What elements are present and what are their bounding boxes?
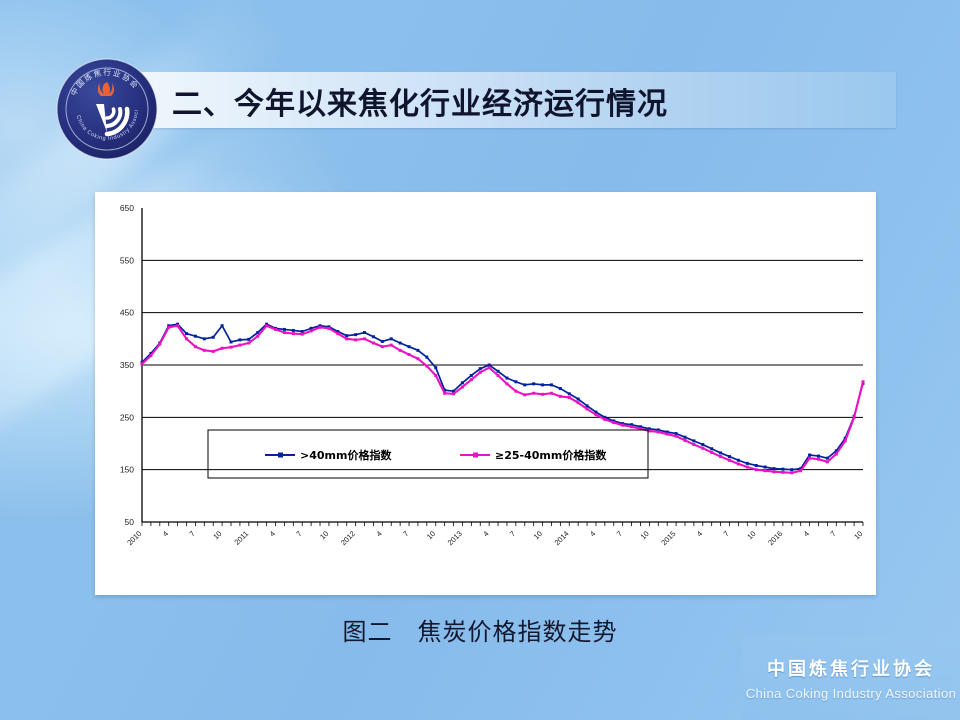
series-2-marker	[612, 421, 615, 424]
series-1-marker	[292, 329, 295, 332]
series-1-marker	[532, 382, 535, 385]
series-2-marker	[167, 326, 170, 329]
y-axis-tick-label: 650	[120, 203, 134, 213]
series-2-marker	[479, 371, 482, 374]
series-1-marker	[550, 383, 553, 386]
series-2-marker	[737, 462, 740, 465]
series-2-marker	[319, 326, 322, 329]
series-2-marker	[203, 349, 206, 352]
series-1-marker	[559, 387, 562, 390]
series-2-marker	[212, 350, 215, 353]
series-2-marker	[746, 466, 749, 469]
series-2-marker	[550, 392, 553, 395]
series-2-marker	[541, 393, 544, 396]
slide-root: 二、今年以来焦化行业经济运行情况 中国炼焦行业协会 China Coking I…	[0, 0, 960, 720]
y-axis-tick-label: 450	[120, 308, 134, 318]
series-2-marker	[247, 342, 250, 345]
series-1-marker	[434, 366, 437, 369]
x-axis-tick-label: 2010	[125, 529, 143, 547]
series-1-marker	[746, 462, 749, 465]
series-1-marker	[194, 335, 197, 338]
series-2-marker	[630, 425, 633, 428]
series-1-marker	[283, 328, 286, 331]
x-axis-tick-label: 7	[294, 529, 303, 538]
footer-brand-name-en: China Coking Industry Association	[746, 686, 956, 701]
series-1-marker	[505, 377, 508, 380]
series-1-marker	[301, 330, 304, 333]
series-2-marker	[764, 469, 767, 472]
series-1-marker	[586, 404, 589, 407]
series-2-marker	[452, 392, 455, 395]
series-2-marker	[434, 374, 437, 377]
series-2-marker	[568, 396, 571, 399]
series-1-marker	[675, 432, 678, 435]
x-axis-tick-label: 10	[211, 529, 223, 541]
series-2-marker	[381, 345, 384, 348]
legend-label-2: ≥25-40mm价格指数	[495, 448, 607, 462]
x-axis-tick-label: 4	[695, 529, 704, 538]
series-2-marker	[772, 470, 775, 473]
series-2-marker	[194, 345, 197, 348]
series-2-marker	[283, 331, 286, 334]
series-1-marker	[497, 370, 500, 373]
series-1-marker	[577, 398, 580, 401]
x-axis-tick-label: 2013	[446, 529, 464, 547]
series-2-marker	[514, 390, 517, 393]
x-axis-tick-label: 10	[745, 529, 757, 541]
y-axis-tick-label: 250	[120, 412, 134, 422]
series-2-marker	[781, 471, 784, 474]
x-axis-tick-label: 7	[828, 529, 837, 538]
chart-gridlines	[142, 260, 863, 469]
series-2-marker	[808, 457, 811, 460]
x-axis-tick-label: 2014	[553, 529, 571, 547]
series-2-marker	[390, 344, 393, 347]
series-2-marker	[354, 338, 357, 341]
series-2-marker	[425, 365, 428, 368]
series-1-marker	[817, 455, 820, 458]
series-2-marker	[755, 468, 758, 471]
footer-brand: 中国炼焦行业协会 China Coking Industry Associati…	[742, 636, 960, 720]
association-logo-icon: 中国炼焦行业协会 China Coking Industry Associati…	[54, 56, 160, 162]
chart-x-axis-labels: 2010471020114710201247102013471020144710…	[125, 529, 864, 547]
series-1-marker	[185, 332, 188, 335]
series-1-marker	[826, 457, 829, 460]
series-1-marker	[772, 467, 775, 470]
series-1-marker	[203, 337, 206, 340]
series-2-marker	[399, 349, 402, 352]
series-1-marker	[790, 468, 793, 471]
series-2-marker	[719, 455, 722, 458]
series-1-marker	[425, 356, 428, 359]
series-1-marker	[808, 454, 811, 457]
series-2-marker	[274, 328, 277, 331]
x-axis-tick-label: 7	[615, 529, 624, 538]
series-2-marker	[586, 407, 589, 410]
x-axis-tick-label: 7	[401, 529, 410, 538]
series-2-marker	[158, 343, 161, 346]
x-axis-tick-label: 4	[161, 529, 170, 538]
series-1-marker	[710, 447, 713, 450]
chart-legend: >40mm价格指数≥25-40mm价格指数	[208, 430, 648, 478]
series-2-marker	[488, 366, 491, 369]
series-1-marker	[479, 367, 482, 370]
series-2-marker	[728, 459, 731, 462]
series-2-marker	[408, 353, 411, 356]
series-1-marker	[728, 455, 731, 458]
series-2-marker	[372, 342, 375, 345]
series-1-marker	[683, 436, 686, 439]
series-1-marker	[238, 338, 241, 341]
series-2-marker	[862, 380, 865, 383]
series-2-marker	[692, 443, 695, 446]
series-2-marker	[505, 382, 508, 385]
series-1-marker	[719, 451, 722, 454]
y-axis-tick-label: 150	[120, 465, 134, 475]
series-2-marker	[221, 347, 224, 350]
series-line-1	[142, 324, 863, 469]
x-axis-tick-label: 4	[481, 529, 490, 538]
series-1-marker	[345, 334, 348, 337]
series-1-marker	[781, 468, 784, 471]
chart-card: 50150250350450550650 2010471020114710201…	[95, 192, 876, 595]
series-2-marker	[701, 447, 704, 450]
series-2-marker	[683, 439, 686, 442]
series-2-marker	[256, 335, 259, 338]
series-2-marker	[292, 332, 295, 335]
x-axis-tick-label: 2015	[659, 529, 677, 547]
series-2-marker	[666, 433, 669, 436]
series-1-marker	[764, 466, 767, 469]
series-2-marker	[176, 324, 179, 327]
series-2-marker	[621, 424, 624, 427]
series-1-marker	[247, 338, 250, 341]
series-2-marker	[185, 337, 188, 340]
series-1-marker	[221, 324, 224, 327]
series-2-marker	[559, 395, 562, 398]
legend-label-1: >40mm价格指数	[300, 448, 392, 462]
series-2-marker	[844, 439, 847, 442]
chart-y-axis-labels: 50150250350450550650	[120, 203, 134, 527]
x-axis-tick-label: 7	[722, 529, 731, 538]
series-1-marker	[399, 342, 402, 345]
x-axis-tick-label: 4	[374, 529, 383, 538]
series-2-marker	[799, 469, 802, 472]
series-1-marker	[230, 340, 233, 343]
series-1-marker	[212, 336, 215, 339]
series-2-marker	[710, 451, 713, 454]
series-1-marker	[755, 464, 758, 467]
series-1-marker	[514, 380, 517, 383]
footer-brand-name-cn: 中国炼焦行业协会	[767, 655, 935, 681]
series-2-marker	[470, 378, 473, 381]
series-2-marker	[577, 401, 580, 404]
x-axis-tick-label: 4	[802, 529, 811, 538]
x-axis-tick-label: 4	[588, 529, 597, 538]
series-2-marker	[603, 418, 606, 421]
series-2-marker	[230, 346, 233, 349]
series-1-marker	[416, 349, 419, 352]
series-2-marker	[826, 460, 829, 463]
series-2-marker	[149, 354, 152, 357]
x-axis-tick-label: 4	[268, 529, 277, 538]
series-2-marker	[265, 324, 268, 327]
series-2-marker	[835, 452, 838, 455]
series-2-marker	[790, 471, 793, 474]
series-1-marker	[354, 333, 357, 336]
x-axis-tick-label: 7	[508, 529, 517, 538]
series-2-marker	[327, 327, 330, 330]
series-2-marker	[657, 430, 660, 433]
series-2-marker	[523, 393, 526, 396]
series-2-marker	[238, 344, 241, 347]
x-axis-tick-label: 10	[425, 529, 437, 541]
x-axis-tick-label: 10	[852, 529, 864, 541]
series-1-marker	[737, 459, 740, 462]
series-2-marker	[443, 392, 446, 395]
series-1-marker	[541, 383, 544, 386]
series-2-marker	[416, 357, 419, 360]
series-2-marker	[363, 337, 366, 340]
series-2-marker	[594, 413, 597, 416]
series-1-marker	[692, 439, 695, 442]
x-axis-tick-label: 10	[318, 529, 330, 541]
x-axis-tick-label: 2012	[339, 529, 357, 547]
series-2-marker	[345, 337, 348, 340]
y-axis-tick-label: 550	[120, 255, 134, 265]
series-2-marker	[141, 362, 144, 365]
series-1-marker	[363, 331, 366, 334]
series-1-marker	[701, 443, 704, 446]
x-axis-tick-label: 2016	[766, 529, 784, 547]
series-1-marker	[568, 392, 571, 395]
x-axis-tick-label: 10	[639, 529, 651, 541]
series-2-marker	[461, 385, 464, 388]
page-title: 二、今年以来焦化行业经济运行情况	[172, 76, 872, 126]
x-axis-tick-label: 2011	[232, 529, 250, 547]
series-1-marker	[488, 364, 491, 367]
series-1-marker	[523, 383, 526, 386]
series-2-marker	[532, 392, 535, 395]
series-1-marker	[390, 337, 393, 340]
series-2-marker	[336, 332, 339, 335]
series-1-marker	[381, 340, 384, 343]
y-axis-tick-label: 350	[120, 360, 134, 370]
series-1-marker	[470, 374, 473, 377]
series-2-marker	[817, 458, 820, 461]
series-2-marker	[675, 435, 678, 438]
series-2-marker	[301, 333, 304, 336]
series-2-marker	[853, 416, 856, 419]
y-axis-tick-label: 50	[125, 517, 135, 527]
coke-price-index-line-chart: 50150250350450550650 2010471020114710201…	[95, 192, 876, 595]
series-1-marker	[461, 381, 464, 384]
series-2-marker	[310, 329, 313, 332]
x-axis-tick-label: 7	[188, 529, 197, 538]
x-axis-tick-label: 10	[532, 529, 544, 541]
series-1-marker	[408, 345, 411, 348]
series-1-marker	[372, 335, 375, 338]
series-2-marker	[497, 374, 500, 377]
